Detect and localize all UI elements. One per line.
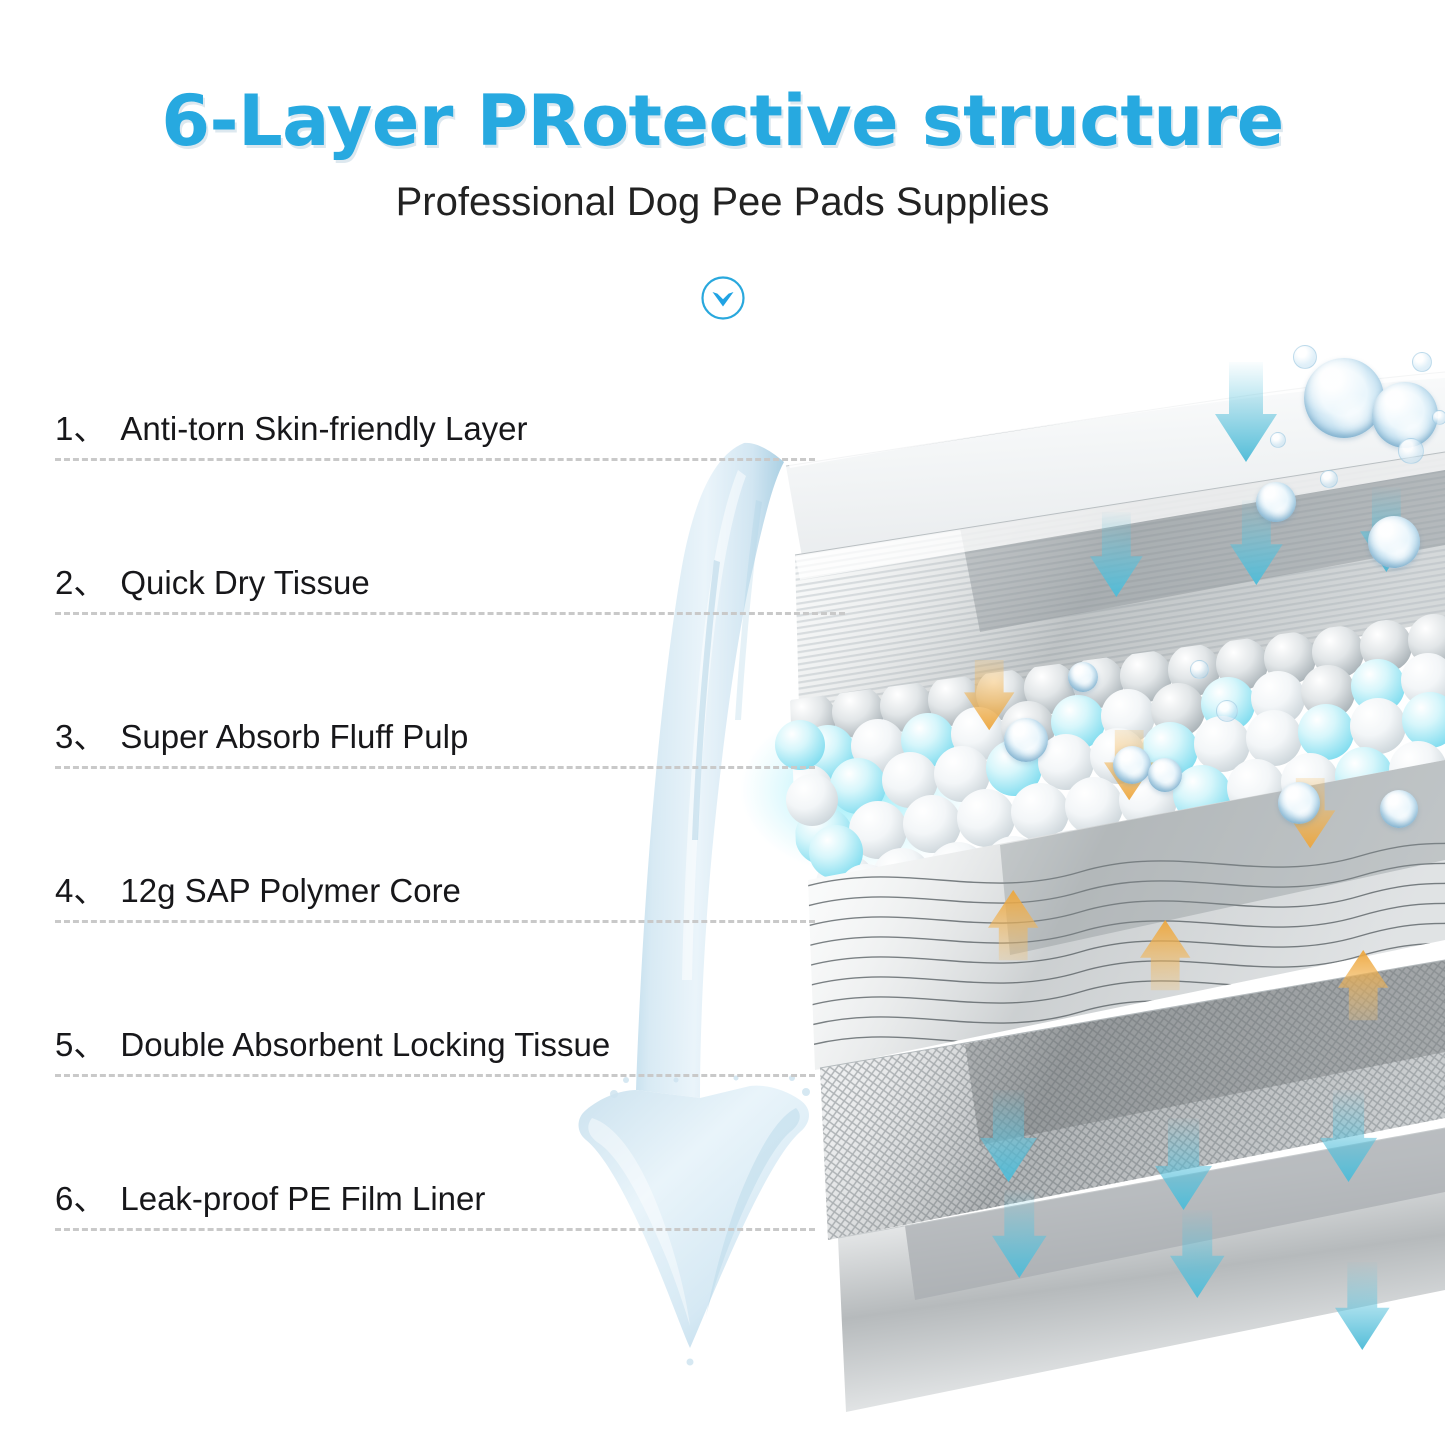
layer-number-2: 2、: [55, 564, 106, 601]
layer-label-row-4: 4、12g SAP Polymer Core: [55, 864, 745, 912]
layer-name-2: Quick Dry Tissue: [120, 564, 369, 601]
water-droplet: [1068, 662, 1098, 692]
layer-number-4: 4、: [55, 872, 106, 909]
layer-number-3: 3、: [55, 718, 106, 755]
layer-name-6: Leak-proof PE Film Liner: [120, 1180, 485, 1217]
water-droplet: [1278, 782, 1320, 824]
water-droplet: [1304, 358, 1384, 438]
layer-name-3: Super Absorb Fluff Pulp: [120, 718, 468, 755]
layer-sheet-2: [795, 452, 1445, 745]
layer-number-5: 5、: [55, 1026, 106, 1063]
layer-number-6: 6、: [55, 1180, 106, 1217]
layer-label-list: 1、Anti-torn Skin-friendly Layer 2、Quick …: [0, 0, 760, 1445]
layer-label-row-3: 3、Super Absorb Fluff Pulp: [55, 710, 745, 758]
water-droplet-small: [1398, 438, 1424, 464]
infographic-root: 6-Layer PRotective structure Professiona…: [0, 0, 1445, 1445]
water-droplet-small: [1190, 660, 1209, 679]
layer-label-row-2: 2、Quick Dry Tissue: [55, 556, 745, 604]
layer-label-row-1: 1、Anti-torn Skin-friendly Layer: [55, 402, 745, 450]
layer-sheet-6: [838, 1128, 1445, 1412]
layer-label-row-6: 6、Leak-proof PE Film Liner: [55, 1172, 745, 1220]
layer-label-row-5: 5、Double Absorbent Locking Tissue: [55, 1018, 745, 1066]
water-droplet-small: [1432, 410, 1445, 425]
water-droplet: [1113, 746, 1151, 784]
layer-sheet-1: [786, 370, 1445, 557]
water-droplet: [1380, 790, 1418, 828]
water-droplet: [1368, 516, 1420, 568]
water-droplet-small: [1293, 345, 1317, 369]
water-droplet-small: [1320, 470, 1338, 488]
water-droplet: [1148, 758, 1182, 792]
layer-number-1: 1、: [55, 410, 106, 447]
layer-sheet-4: [800, 760, 1445, 1070]
layer-name-4: 12g SAP Polymer Core: [120, 872, 461, 909]
water-droplet: [1256, 482, 1296, 522]
water-droplet-small: [1412, 352, 1432, 372]
water-droplet: [1004, 718, 1048, 762]
water-droplet: [1372, 382, 1438, 448]
layer-name-5: Double Absorbent Locking Tissue: [120, 1026, 610, 1063]
release-arrows-orange: [964, 660, 1388, 1020]
water-droplet-small: [1216, 700, 1238, 722]
layer-sheet-5: [820, 960, 1445, 1240]
layer-sheet-3: [740, 614, 1445, 920]
absorb-arrows-cyan: [980, 362, 1413, 1350]
layer-name-1: Anti-torn Skin-friendly Layer: [120, 410, 527, 447]
water-droplet-small: [1270, 432, 1286, 448]
water-droplets: [1306, 361, 1384, 439]
